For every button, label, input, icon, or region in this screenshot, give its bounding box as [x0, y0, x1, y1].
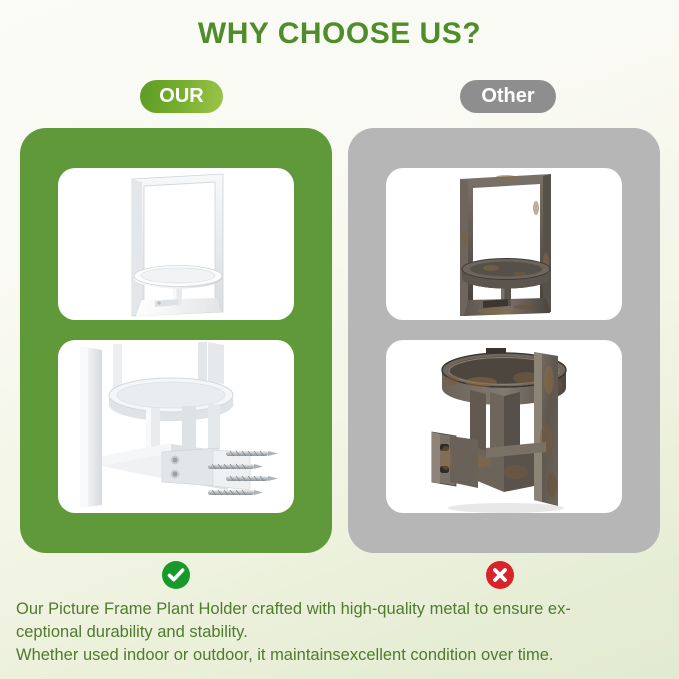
panel-other: [348, 128, 660, 553]
badge-our: OUR: [140, 80, 223, 113]
white-plant-holder-bracket-closeup: [58, 340, 294, 513]
cross-circle-icon: [486, 561, 514, 589]
footer-line-1: Our Picture Frame Plant Holder crafted w…: [16, 598, 667, 621]
footer-line-3: Whether used indoor or outdoor, it maint…: [16, 644, 667, 667]
image-card-our-bottom: [58, 340, 294, 513]
footer-description: Our Picture Frame Plant Holder crafted w…: [16, 598, 667, 667]
image-card-other-top: [386, 168, 622, 320]
footer-line-2: ceptional durability and stability.: [16, 621, 667, 644]
badge-other: Other: [460, 80, 556, 113]
page-title: WHY CHOOSE US?: [0, 17, 679, 51]
check-circle-icon: [162, 561, 190, 589]
image-card-other-bottom: [386, 340, 622, 513]
rusty-metal-frame-plant-holder-front: [386, 168, 622, 320]
white-picture-frame-plant-holder-front: [58, 168, 294, 320]
panel-our: [20, 128, 332, 553]
image-card-our-top: [58, 168, 294, 320]
rusty-metal-plant-holder-bracket-closeup: [386, 340, 622, 513]
